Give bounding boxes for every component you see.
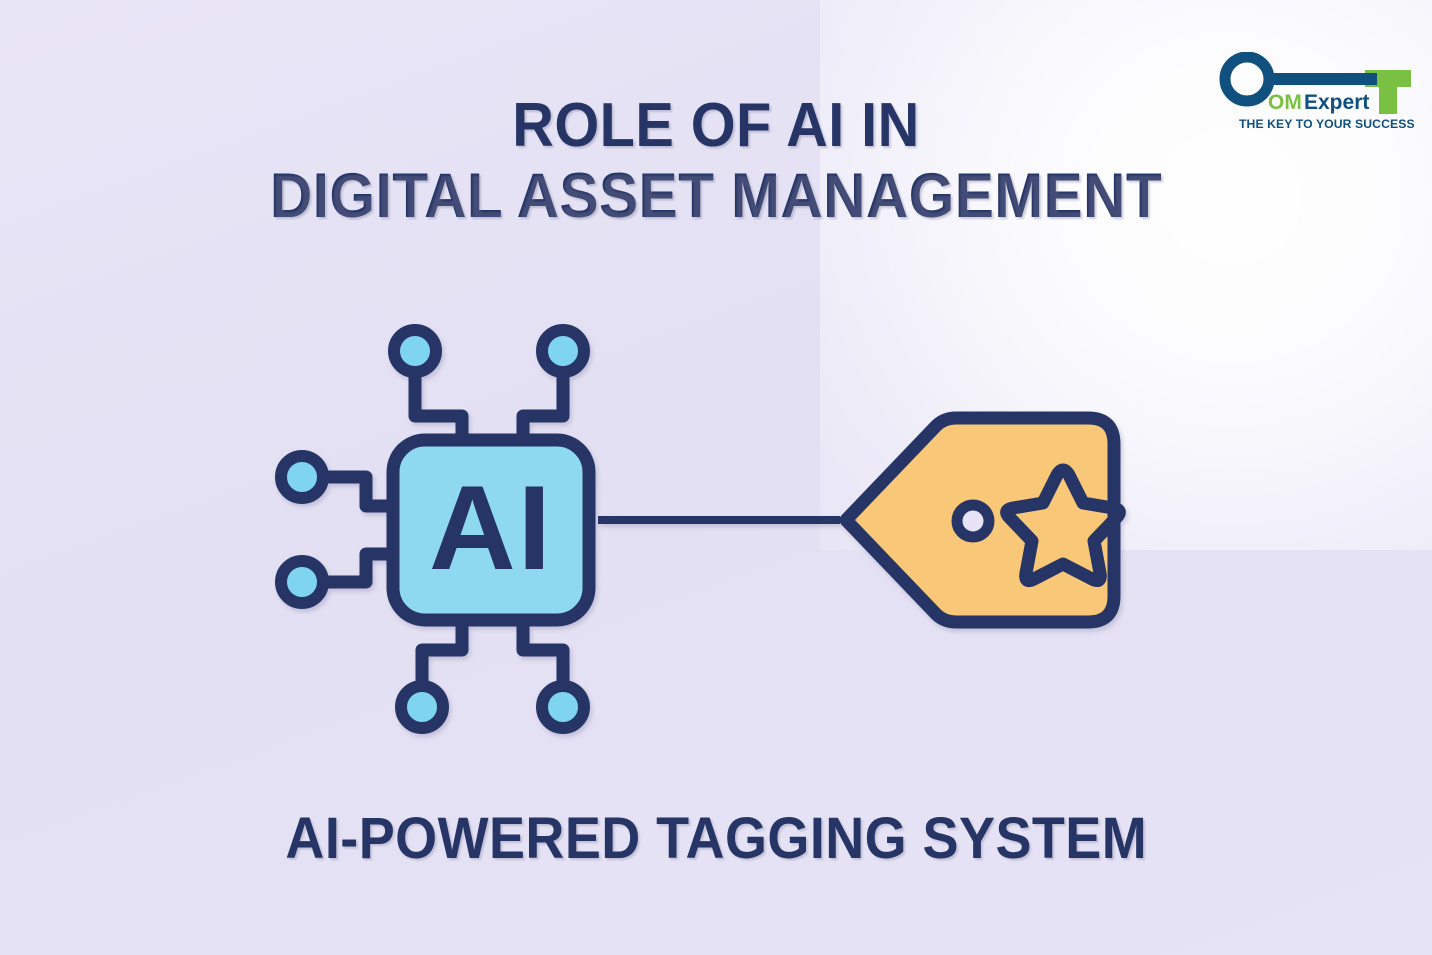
chip-pin-node-left-lower-icon[interactable] — [281, 561, 323, 603]
logo-tagline: THE KEY TO YOUR SUCCESS — [1239, 117, 1415, 131]
asset-tag-icon[interactable] — [846, 418, 1119, 622]
ai-tagging-illustration: AI — [280, 320, 1160, 740]
tag-hole-icon — [957, 505, 989, 537]
chip-pin-node-top-left-icon[interactable] — [394, 330, 436, 372]
om-expert-logo[interactable]: OM Expert THE KEY TO YOUR SUCCESS — [1219, 52, 1415, 134]
logo-word-expert: Expert — [1304, 91, 1369, 114]
chip-pin-node-left-upper-icon[interactable] — [281, 456, 323, 498]
ai-chip-label: AI — [429, 461, 553, 595]
chip-pin-node-top-right-icon[interactable] — [542, 330, 584, 372]
logo-word-om: OM — [1268, 91, 1302, 114]
chip-pin-node-bottom-left-icon[interactable] — [401, 686, 443, 728]
infographic-canvas: OM Expert THE KEY TO YOUR SUCCESS ROLE O… — [0, 0, 1432, 955]
chip-pin-node-bottom-right-icon[interactable] — [542, 686, 584, 728]
